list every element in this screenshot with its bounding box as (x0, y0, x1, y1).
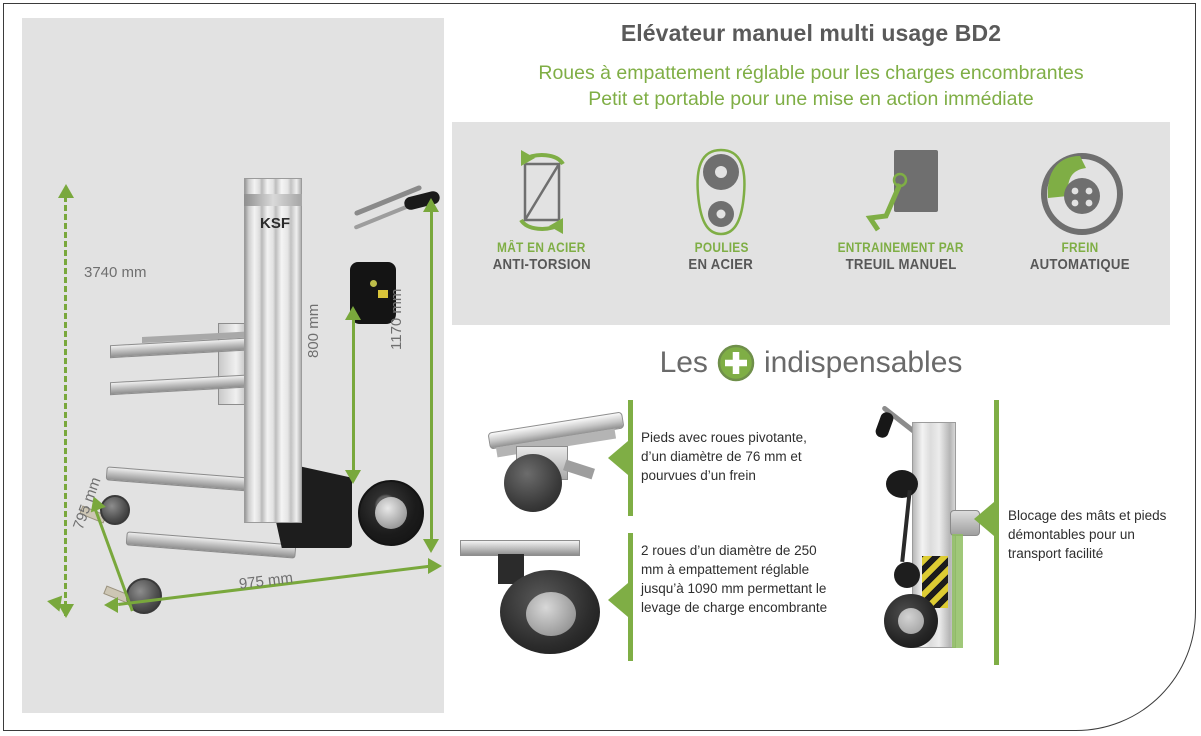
fork-height-line (352, 318, 355, 473)
feature-label-line2: TREUIL MANUEL (845, 256, 956, 274)
feature-label-line2: EN ACIER (689, 256, 754, 274)
lift-illustration: KSF (22, 18, 444, 713)
overall-length-arrow-right (428, 558, 442, 574)
feature-manual-winch: ENTRAINEMENT PAR TREUIL MANUEL (811, 122, 991, 325)
swivel-caster-photo (460, 398, 630, 516)
max-height-arrow-top (58, 184, 74, 198)
datasheet-page: KSF 3740 mm 800 mm 1170 mm 795 mm (0, 0, 1201, 736)
anti-torsion-mast-icon (505, 144, 579, 240)
feature-label-line1: FREIN (1062, 240, 1099, 256)
feature-automatic-brake: FREIN AUTOMATIQUE (991, 122, 1171, 325)
fork-height-arrow-bottom (345, 470, 361, 484)
overall-height-arrow-bottom (423, 539, 439, 553)
plus-section-heading: Les indispensables (452, 340, 1170, 386)
mast-top-cap (244, 194, 302, 206)
folded-green-guide (952, 534, 963, 648)
subtitle-line-1: Roues à empattement réglable pour les ch… (452, 62, 1170, 85)
dimension-diagram-panel: KSF 3740 mm 800 mm 1170 mm 795 mm (22, 18, 444, 713)
manual-winch-icon (856, 144, 946, 240)
large-wheel-hub (526, 592, 576, 636)
support-leg-lower (126, 531, 297, 558)
folded-pointer-arrow (974, 502, 994, 536)
main-wheel (358, 480, 424, 546)
folded-pointer-bar (994, 400, 999, 665)
overall-length-arrow-left (104, 597, 118, 613)
caster-pointer-bar (628, 400, 633, 516)
plus-circle-icon (717, 344, 755, 382)
folded-lift-caption: Blocage des mâts et pieds démontables po… (1008, 506, 1168, 563)
wheel-pointer-bar (628, 533, 633, 661)
folded-tie-rod (900, 490, 912, 562)
brand-label: KSF (260, 214, 280, 234)
feature-label-line2: ANTI-TORSION (493, 256, 591, 274)
feature-label-line1: MÂT EN ACIER (497, 240, 586, 256)
caster-pointer-arrow (608, 441, 628, 475)
plus-heading-suffix: indispensables (764, 346, 962, 380)
feature-label-line2: AUTOMATIQUE (1030, 256, 1130, 274)
page-title: Elévateur manuel multi usage BD2 (452, 20, 1170, 47)
feature-highlights-panel: MÂT EN ACIER ANTI-TORSION POULIES EN ACI… (452, 122, 1170, 325)
folded-handle-grip (874, 411, 895, 440)
fork-height-arrow-top (345, 306, 361, 320)
feature-label-line1: POULIES (694, 240, 748, 256)
wheel-pointer-arrow (608, 583, 628, 617)
large-wheel-caption: 2 roues d’un diamètre de 250 mm à empatt… (641, 541, 831, 617)
folded-winch (886, 470, 918, 498)
folded-small-wheel (894, 562, 920, 588)
folded-main-wheel-hub (898, 608, 924, 634)
steel-pulleys-icon (688, 144, 754, 240)
subtitle-line-2: Petit et portable pour une mise en actio… (452, 88, 1170, 111)
overall-height-arrow-top (423, 198, 439, 212)
winch-sticker (378, 290, 388, 298)
winch-bolt (370, 280, 377, 287)
feature-label-line1: ENTRAINEMENT PAR (838, 240, 964, 256)
plus-heading-prefix: Les (660, 346, 708, 380)
feature-anti-torsion-mast: MÂT EN ACIER ANTI-TORSION (452, 122, 632, 325)
overall-height-label: 1170 mm (388, 289, 405, 350)
large-wheel-photo (460, 530, 630, 658)
feature-steel-pulleys: POULIES EN ACIER (632, 122, 812, 325)
fork-height-label: 800 mm (305, 304, 322, 358)
automatic-brake-icon (1034, 144, 1126, 240)
max-height-dashed-line (64, 196, 67, 616)
caster-tyre (504, 454, 562, 512)
overall-height-line (430, 210, 433, 542)
caster-wheel-upper (100, 495, 130, 525)
max-height-label: 3740 mm (84, 264, 147, 281)
caster-caption: Pieds avec roues pivotante, d’un diamètr… (641, 428, 831, 485)
